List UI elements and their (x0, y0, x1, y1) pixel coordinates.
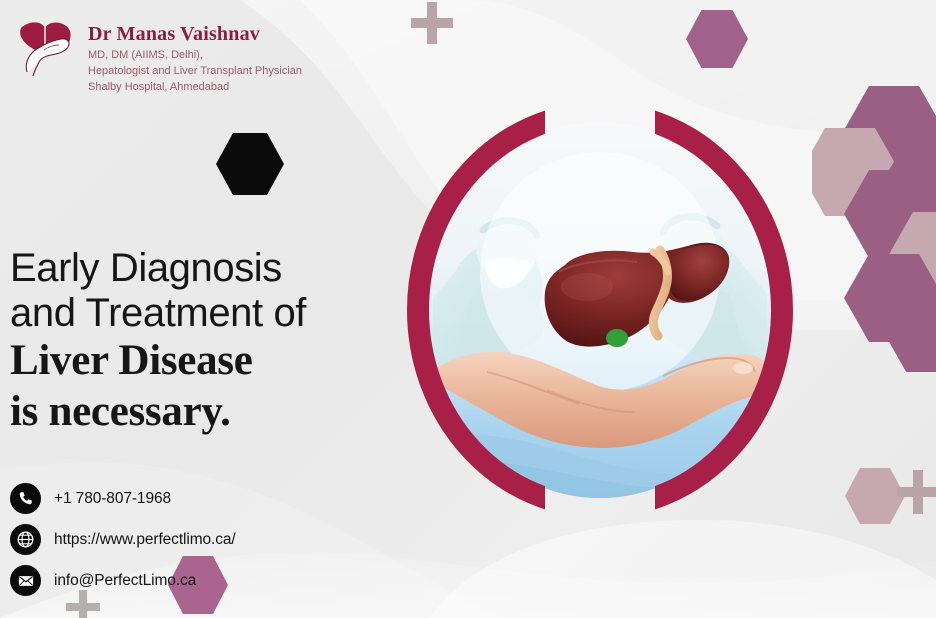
headline-line-3: Liver Disease (10, 336, 400, 387)
split-circle-ring (405, 100, 795, 520)
doctor-credentials: MD, DM (AIIMS, Delhi), (88, 48, 302, 64)
phone-icon (10, 483, 41, 514)
hexagon-top-right-icon (686, 10, 748, 68)
headline: Early Diagnosis and Treatment of Liver D… (10, 246, 400, 438)
honeycomb-cluster-icon (812, 82, 936, 372)
cross-right-lower-icon (897, 470, 936, 514)
contact-row-website[interactable]: https://www.perfectlimo.ca/ (10, 519, 236, 560)
website-url: https://www.perfectlimo.ca/ (54, 531, 236, 549)
liver-in-hand-logo-icon (14, 14, 78, 78)
hexagon-right-lower-icon (845, 468, 905, 524)
contact-row-phone[interactable]: +1 780-807-1968 (10, 478, 236, 519)
brand-logo: Dr Manas Vaishnav MD, DM (AIIMS, Delhi),… (14, 14, 302, 96)
email-address: info@PerfectLimo.ca (54, 572, 196, 590)
globe-icon (10, 524, 41, 555)
phone-number: +1 780-807-1968 (54, 490, 171, 508)
liver-clinic-banner: Dr Manas Vaishnav MD, DM (AIIMS, Delhi),… (0, 0, 936, 618)
headline-line-4: is necessary. (10, 387, 400, 438)
headline-line-2: and Treatment of (10, 291, 400, 336)
surgeons-holding-liver-photo (405, 100, 795, 520)
hexagon-black-left-icon (216, 133, 284, 195)
doctor-name: Dr Manas Vaishnav (88, 24, 302, 45)
doctor-specialty: Hepatologist and Liver Transplant Physic… (88, 64, 302, 80)
contact-list: +1 780-807-1968 https://www.perfectlimo.… (10, 478, 236, 601)
headline-line-1: Early Diagnosis (10, 246, 400, 291)
contact-row-email[interactable]: info@PerfectLimo.ca (10, 560, 236, 601)
doctor-hospital: Shalby Hospital, Ahmedabad (88, 80, 302, 96)
cross-top-center-icon (411, 2, 453, 44)
envelope-icon (10, 565, 41, 596)
